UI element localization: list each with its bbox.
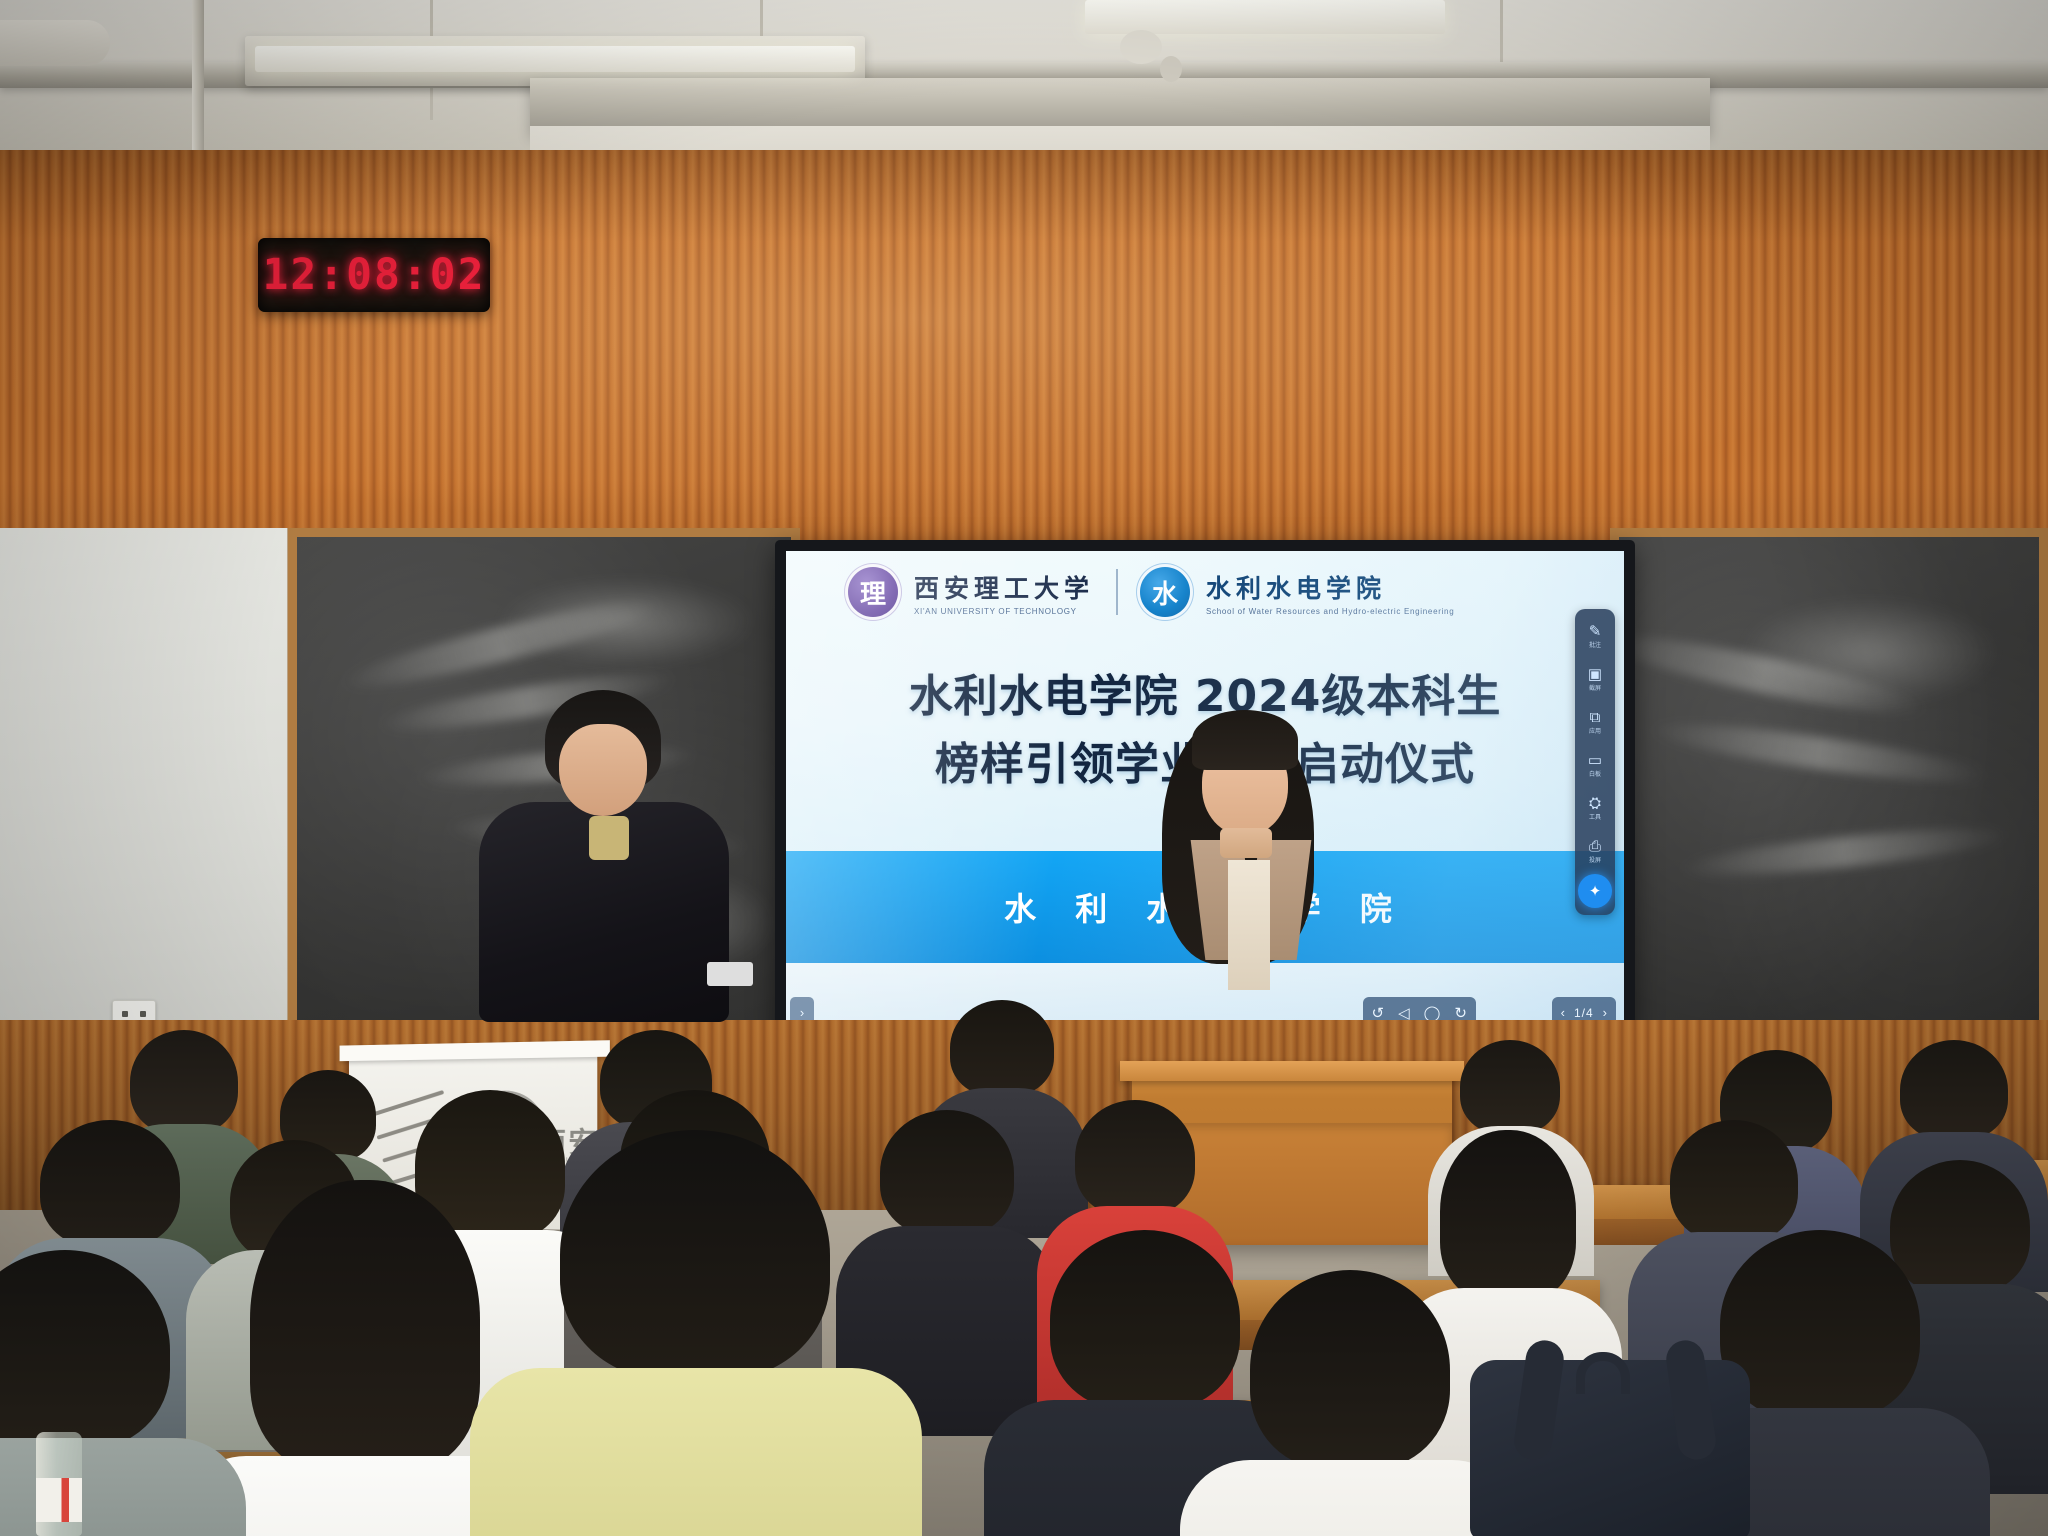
school-logo-text: 水利水电学院 School of Water Resources and Hyd… xyxy=(1206,569,1454,616)
display-tool-label: 投屏 xyxy=(1589,855,1601,864)
redo-icon[interactable]: ↻ xyxy=(1454,1004,1467,1022)
circle-icon[interactable]: ◯ xyxy=(1424,1004,1441,1022)
whiteboard-icon: ▭ xyxy=(1588,753,1602,768)
host-inner-top xyxy=(1228,860,1270,990)
apps-icon: ⧉ xyxy=(1590,710,1601,725)
display-tool-icon[interactable]: ⎙ 投屏 xyxy=(1578,831,1612,871)
host-hair-top xyxy=(1192,710,1298,770)
whiteboard-tool-label: 白板 xyxy=(1589,769,1601,778)
jacket-logo-patch xyxy=(707,962,753,986)
bottle-label xyxy=(36,1478,82,1522)
university-name-cn: 西安理工大学 xyxy=(914,569,1094,605)
ceiling-fitting xyxy=(0,20,110,66)
school-seal-icon: 水 xyxy=(1140,567,1190,617)
gear-icon: ⛭ xyxy=(1589,796,1601,811)
page-indicator: 1/4 xyxy=(1574,1006,1594,1020)
screen-icon: ▣ xyxy=(1588,667,1602,682)
logo-divider xyxy=(1116,569,1118,615)
host-neck xyxy=(1220,828,1272,858)
speaker-face xyxy=(559,724,647,816)
male-speaker xyxy=(545,690,795,1030)
chalk-smudge xyxy=(497,577,757,667)
backpack-handle xyxy=(1576,1352,1630,1394)
ceiling-light-mount xyxy=(1160,56,1182,82)
school-name-cn: 水利水电学院 xyxy=(1206,569,1454,605)
lecture-hall-photo: 12:08:02 理 西安理工大学 XI'AN UNIVERSI xyxy=(0,0,2048,1536)
page-prev-icon[interactable]: ‹ xyxy=(1561,1005,1565,1020)
university-seal-icon: 理 xyxy=(848,567,898,617)
university-name-en: XI'AN UNIVERSITY OF TECHNOLOGY xyxy=(914,607,1094,616)
sparkle-icon: ✦ xyxy=(1589,884,1602,899)
inner-shirt xyxy=(589,816,629,860)
whiteboard-tool-icon[interactable]: ▭ 白板 xyxy=(1578,745,1612,785)
annotate-tool-icon[interactable]: ✎ 批注 xyxy=(1578,616,1612,656)
cast-icon: ⎙ xyxy=(1589,839,1601,854)
page-next-icon[interactable]: › xyxy=(1603,1005,1607,1020)
podium-top-edge xyxy=(1120,1061,1464,1081)
screenshot-tool-icon[interactable]: ▣ 截屏 xyxy=(1578,659,1612,699)
apps-tool-icon[interactable]: ⧉ 应用 xyxy=(1578,702,1612,742)
apps-tool-label: 应用 xyxy=(1589,726,1601,735)
tools-tool-label: 工具 xyxy=(1589,812,1601,821)
water-bottle xyxy=(36,1432,82,1536)
ceiling-light xyxy=(1085,0,1445,34)
annotate-tool-label: 批注 xyxy=(1589,640,1601,649)
school-name-en: School of Water Resources and Hydro-elec… xyxy=(1206,607,1454,616)
right-chalkboard xyxy=(1610,528,2048,1094)
board-side-toolbar[interactable]: ✎ 批注 ▣ 截屏 ⧉ 应用 ▭ 白板 ⛭ 工具 xyxy=(1575,609,1615,915)
screenshot-tool-label: 截屏 xyxy=(1589,683,1601,692)
university-logo-text: 西安理工大学 XI'AN UNIVERSITY OF TECHNOLOGY xyxy=(914,569,1094,616)
digital-clock: 12:08:02 xyxy=(258,238,490,312)
clock-time: 12:08:02 xyxy=(258,238,490,312)
wood-slat-wall xyxy=(0,150,2048,570)
ceiling-light-mount xyxy=(1120,30,1162,64)
fluorescent-tube xyxy=(255,46,855,72)
slide-logo-header: 理 西安理工大学 XI'AN UNIVERSITY OF TECHNOLOGY … xyxy=(786,559,1624,625)
assistant-tool-icon[interactable]: ✦ xyxy=(1578,874,1612,908)
chalk-smudge xyxy=(1739,597,1999,707)
pencil-icon: ✎ xyxy=(1589,624,1602,639)
tools-tool-icon[interactable]: ⛭ 工具 xyxy=(1578,788,1612,828)
